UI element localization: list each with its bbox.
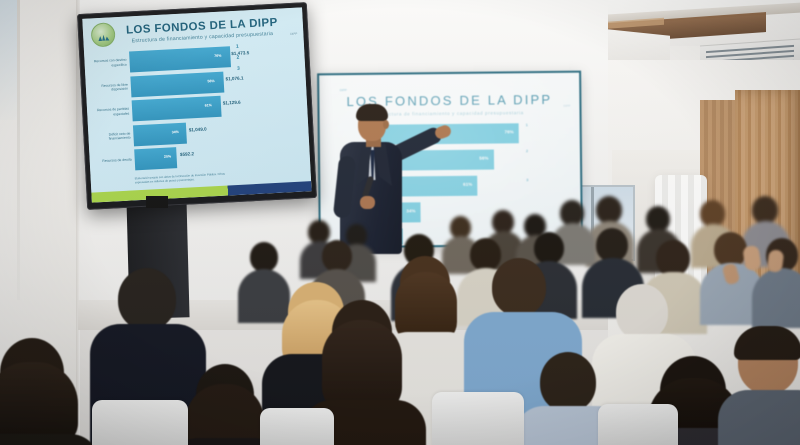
paragraph-lines bbox=[241, 41, 304, 49]
tv-bar-chart: Recursos con destino específico 76% $1,4… bbox=[90, 45, 236, 172]
presenter-hair bbox=[356, 104, 388, 121]
bar-category-label: Recursos de deuda bbox=[96, 158, 135, 164]
tv-mount-neck bbox=[146, 196, 168, 208]
tv-slide-footnote: Elaboración propia con datos de la Direc… bbox=[135, 171, 235, 185]
bar-value-label: $1,129.6 bbox=[223, 100, 241, 106]
bar-value-label: $592.2 bbox=[180, 151, 194, 157]
paragraph-number: 1 bbox=[236, 45, 239, 50]
paragraph-number: 2 bbox=[236, 56, 239, 61]
tv-floor-stand bbox=[126, 197, 189, 319]
wood-door bbox=[735, 90, 800, 290]
presenter-hand-holding-mic bbox=[360, 196, 375, 209]
list-item: 2 bbox=[236, 52, 304, 61]
bar-category-label: Déficit neto de financiamiento bbox=[94, 131, 133, 142]
bar-category-label: Recursos de partidas especiales bbox=[93, 107, 132, 118]
bar-percent-label: 20% bbox=[164, 154, 171, 158]
presenter bbox=[334, 104, 438, 264]
wall-mounted-tv: LOS FONDOS DE LA DIPP Estructura de fina… bbox=[77, 2, 317, 210]
presentation-photo-scene: DIPP LOS FONDOS DE LA DIPP Estructura de… bbox=[0, 0, 800, 445]
presenter-ear bbox=[383, 120, 389, 129]
bar-percent-label: 56% bbox=[207, 79, 214, 83]
circular-green-institutional-logo bbox=[91, 22, 116, 47]
list-item: 3 bbox=[237, 63, 305, 72]
tv-screen: LOS FONDOS DE LA DIPP Estructura de fina… bbox=[82, 7, 311, 202]
paragraph-lines bbox=[241, 52, 304, 60]
paragraph-number: 3 bbox=[237, 67, 240, 72]
white-curtain bbox=[655, 175, 707, 325]
bar-percent-label: 34% bbox=[172, 129, 179, 133]
paragraph-lines bbox=[242, 63, 305, 71]
bar-value-label: $1,049.0 bbox=[189, 126, 207, 132]
tv-slide-corner-code: DIPP bbox=[290, 32, 297, 36]
bar-percent-label: 76% bbox=[214, 54, 221, 58]
bar-category-label: Recursos de libre disposición bbox=[92, 82, 131, 93]
bar-percent-label: 61% bbox=[205, 103, 212, 107]
list-item: 1 bbox=[236, 41, 304, 50]
tv-slide: LOS FONDOS DE LA DIPP Estructura de fina… bbox=[82, 7, 311, 202]
wall-seam bbox=[17, 0, 20, 300]
tv-text-column: 1 2 3 bbox=[236, 41, 306, 78]
bar-category-label: Recursos con destino específico bbox=[90, 58, 129, 69]
